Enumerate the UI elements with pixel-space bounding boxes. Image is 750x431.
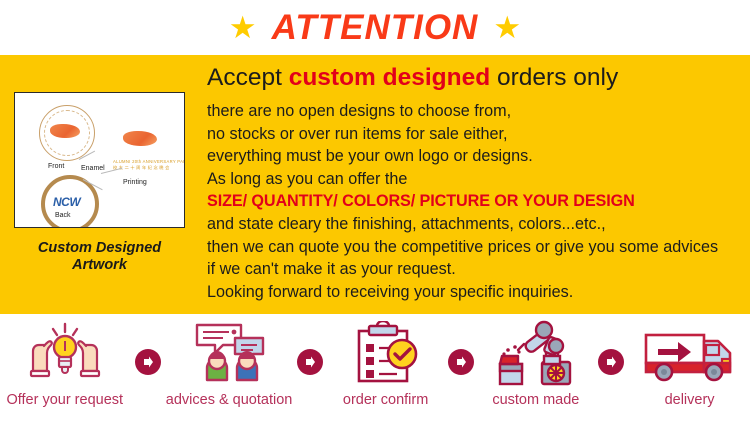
- promo-line-3: everything must be your own logo or desi…: [207, 145, 737, 168]
- process-step-label-1: Offer your request: [6, 392, 123, 408]
- artwork-column: Front NCW Back ALUMNI 20th ANNIVERSARY P…: [14, 92, 185, 274]
- process-separator-1: [130, 314, 166, 431]
- artwork-preview-image: Front NCW Back ALUMNI 20th ANNIVERSARY P…: [14, 92, 185, 228]
- artwork-caption-line-2: Artwork: [14, 257, 185, 274]
- headline-suffix: orders only: [490, 64, 618, 91]
- star-right-icon: ★: [492, 13, 522, 43]
- arrow-right-icon-3: [448, 349, 474, 375]
- process-strip: Offer your request: [0, 314, 750, 431]
- page-title: ATTENTION: [272, 10, 479, 45]
- promo-line-6: and state cleary the finishing, attachme…: [207, 213, 737, 236]
- process-separator-3: [443, 314, 479, 431]
- artwork-caption-line-1: Custom Designed: [14, 240, 185, 257]
- headline-emphasis: custom designed: [289, 64, 490, 91]
- attention-header: ★ ATTENTION ★: [0, 0, 750, 55]
- promo-line-2: no stocks or over run items for sale eit…: [207, 123, 737, 146]
- process-step-label-2: advices & quotation: [166, 392, 293, 408]
- coin-front-graphic: [39, 105, 95, 161]
- printing-logo-icon: [123, 131, 157, 146]
- delivery-truck-icon: [635, 320, 745, 386]
- ncw-logo-text: NCW: [53, 195, 80, 209]
- process-step-custom-made[interactable]: custom made: [479, 314, 593, 431]
- process-steps: Offer your request: [0, 314, 750, 431]
- star-left-icon: ★: [228, 13, 258, 43]
- promo-headline: Accept custom designed orders only: [207, 63, 737, 93]
- promo-text-column: Accept custom designed orders only there…: [207, 63, 737, 303]
- promo-line-9: Looking forward to receiving your specif…: [207, 281, 737, 304]
- promo-line-4: As long as you can offer the: [207, 168, 737, 191]
- process-step-label-4: custom made: [492, 392, 579, 408]
- artwork-label-printing: Printing: [123, 179, 147, 186]
- clipboard-check-icon: [331, 320, 441, 386]
- arrow-right-icon-1: [135, 349, 161, 375]
- process-separator-2: [292, 314, 328, 431]
- artwork-label-front: Front: [48, 163, 64, 170]
- promo-line-1: there are no open designs to choose from…: [207, 100, 737, 123]
- robot-arm-icon: [481, 320, 591, 386]
- process-step-label-3: order confirm: [343, 392, 428, 408]
- chat-people-icon: [174, 320, 284, 386]
- artwork-label-enamel: Enamel: [81, 165, 105, 172]
- headline-prefix: Accept: [207, 64, 289, 91]
- promo-line-5-emphasis: SIZE/ QUANTITY/ COLORS/ PICTURE OR YOUR …: [207, 190, 737, 213]
- artwork-label-back: Back: [55, 212, 71, 219]
- process-step-offer-request[interactable]: Offer your request: [0, 314, 130, 431]
- process-step-delivery[interactable]: delivery: [629, 314, 750, 431]
- hands-lightbulb-icon: [10, 320, 120, 386]
- process-separator-4: [593, 314, 629, 431]
- attention-body-band: Front NCW Back ALUMNI 20th ANNIVERSARY P…: [0, 55, 750, 314]
- process-step-advices-quotation[interactable]: advices & quotation: [166, 314, 293, 431]
- process-step-order-confirm[interactable]: order confirm: [329, 314, 443, 431]
- coin-front-logo-icon: [50, 124, 80, 138]
- promo-line-8: if we can't make it as your request.: [207, 258, 737, 281]
- arrow-right-icon-4: [598, 349, 624, 375]
- printing-line-1: ALUMNI 20th ANNIVERSARY PARTY: [113, 159, 185, 164]
- arrow-right-icon-2: [297, 349, 323, 375]
- process-step-label-5: delivery: [665, 392, 715, 408]
- promo-line-7: then we can quote you the competitive pr…: [207, 236, 737, 259]
- artwork-caption: Custom Designed Artwork: [14, 240, 185, 274]
